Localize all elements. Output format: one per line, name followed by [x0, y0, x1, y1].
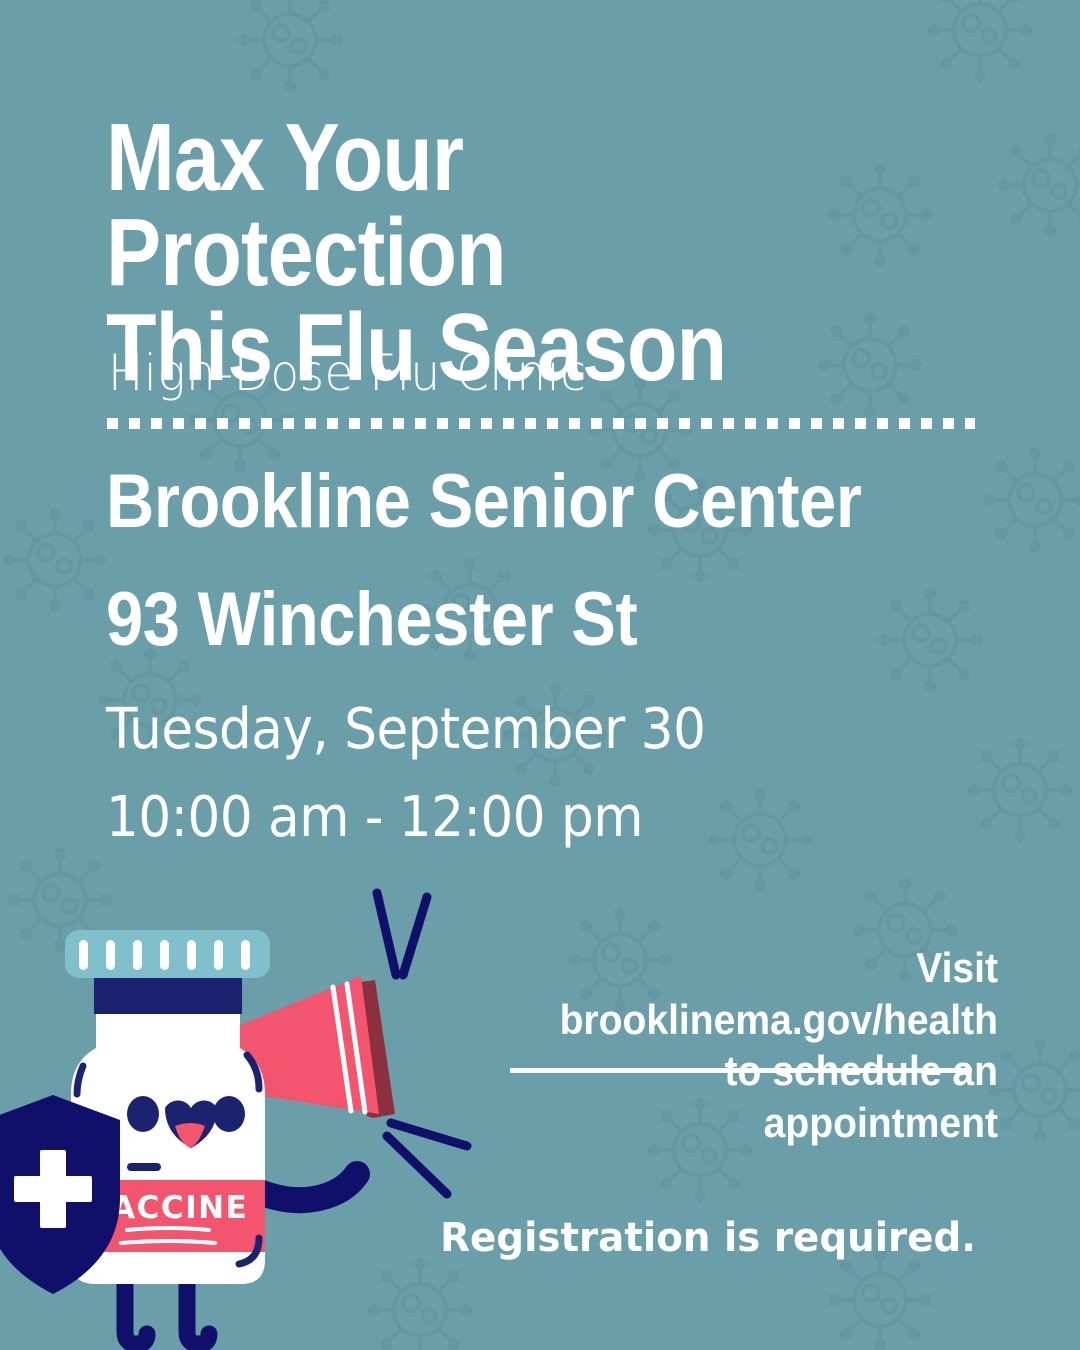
- dotted-divider: [107, 418, 975, 429]
- venue-name: Brookline Senior Center: [106, 464, 898, 540]
- registration-notice: Registration is required.: [398, 1218, 976, 1258]
- event-time: 10:00 am - 12:00 pm: [106, 790, 934, 846]
- poster-text-content: Max Your Protection This Flu Season High…: [0, 0, 1080, 1350]
- call-to-action-text: Visit brooklinema.gov/health to schedule…: [514, 942, 998, 1149]
- poster-subtitle: High-Dose Flu Clinic: [108, 348, 586, 398]
- venue-address: 93 Winchester St: [106, 582, 898, 658]
- event-date: Tuesday, September 30: [106, 702, 934, 758]
- flu-clinic-poster: VACCINE M: [0, 0, 1080, 1350]
- call-to-action-underline: [510, 1068, 972, 1073]
